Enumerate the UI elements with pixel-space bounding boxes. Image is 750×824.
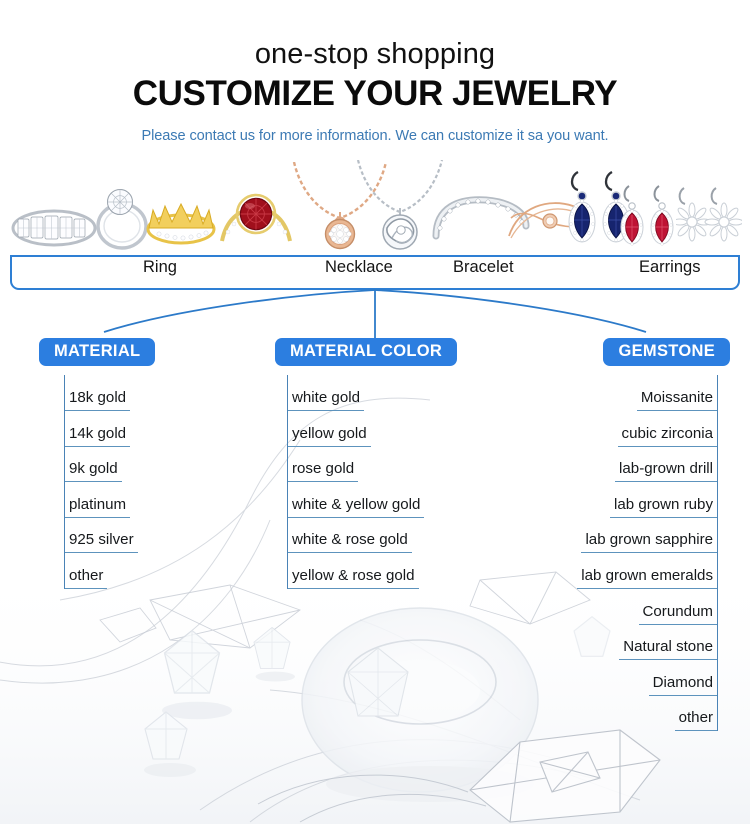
branch-connector-lines: [0, 288, 750, 342]
category-label-earrings[interactable]: Earrings: [639, 258, 700, 277]
list-item[interactable]: white & yellow gold: [288, 482, 457, 518]
list-item[interactable]: other: [65, 553, 155, 589]
list-item[interactable]: 14k gold: [65, 411, 155, 447]
list-item[interactable]: rose gold: [288, 447, 457, 483]
list-item[interactable]: cubic zirconia: [568, 411, 717, 447]
page-header: one-stop shopping CUSTOMIZE YOUR JEWELRY…: [0, 0, 750, 144]
list-item[interactable]: 18k gold: [65, 375, 155, 411]
column-gemstone: GEMSTONE Moissanite cubic zirconia lab-g…: [568, 338, 730, 731]
material-color-badge[interactable]: MATERIAL COLOR: [275, 338, 457, 366]
material-badge[interactable]: MATERIAL: [39, 338, 155, 366]
list-item[interactable]: Natural stone: [568, 625, 717, 661]
product-thumbnail-strip: [0, 158, 750, 250]
list-item[interactable]: Moissanite: [568, 375, 717, 411]
category-label-bracelet[interactable]: Bracelet: [453, 258, 514, 277]
page-title: CUSTOMIZE YOUR JEWELRY: [0, 74, 750, 114]
list-item[interactable]: yellow & rose gold: [288, 553, 457, 589]
list-item[interactable]: yellow gold: [288, 411, 457, 447]
list-item[interactable]: lab grown emeralds: [568, 553, 717, 589]
category-label-ring[interactable]: Ring: [143, 258, 177, 277]
list-item[interactable]: Corundum: [568, 589, 717, 625]
material-color-item-list: white gold yellow gold rose gold white &…: [287, 375, 457, 589]
ruby-drop-earrings-thumb: [620, 182, 680, 250]
list-item[interactable]: lab grown sapphire: [568, 518, 717, 554]
gold-crown-ring-thumb: [145, 198, 217, 246]
column-material: MATERIAL 18k gold 14k gold 9k gold plati…: [39, 338, 155, 589]
list-item[interactable]: lab grown ruby: [568, 482, 717, 518]
gemstone-item-list: Moissanite cubic zirconia lab-grown dril…: [568, 375, 718, 731]
list-item[interactable]: 9k gold: [65, 447, 155, 483]
header-kicker: one-stop shopping: [0, 38, 750, 70]
header-subtitle: Please contact us for more information. …: [0, 128, 750, 144]
list-item[interactable]: platinum: [65, 482, 155, 518]
list-item[interactable]: 925 silver: [65, 518, 155, 554]
list-item[interactable]: white & rose gold: [288, 518, 457, 554]
list-item[interactable]: other: [568, 696, 717, 732]
category-label-necklace[interactable]: Necklace: [325, 258, 393, 277]
column-material-color: MATERIAL COLOR white gold yellow gold ro…: [275, 338, 457, 589]
diamond-flower-earrings-thumb: [676, 184, 742, 246]
list-item[interactable]: lab-grown drill: [568, 447, 717, 483]
ruby-halo-ring-thumb: [216, 191, 296, 249]
solitaire-ring-thumb: [84, 178, 154, 250]
gemstone-badge[interactable]: GEMSTONE: [603, 338, 730, 366]
list-item[interactable]: white gold: [288, 375, 457, 411]
material-item-list: 18k gold 14k gold 9k gold platinum 925 s…: [64, 375, 155, 589]
list-item[interactable]: Diamond: [568, 660, 717, 696]
